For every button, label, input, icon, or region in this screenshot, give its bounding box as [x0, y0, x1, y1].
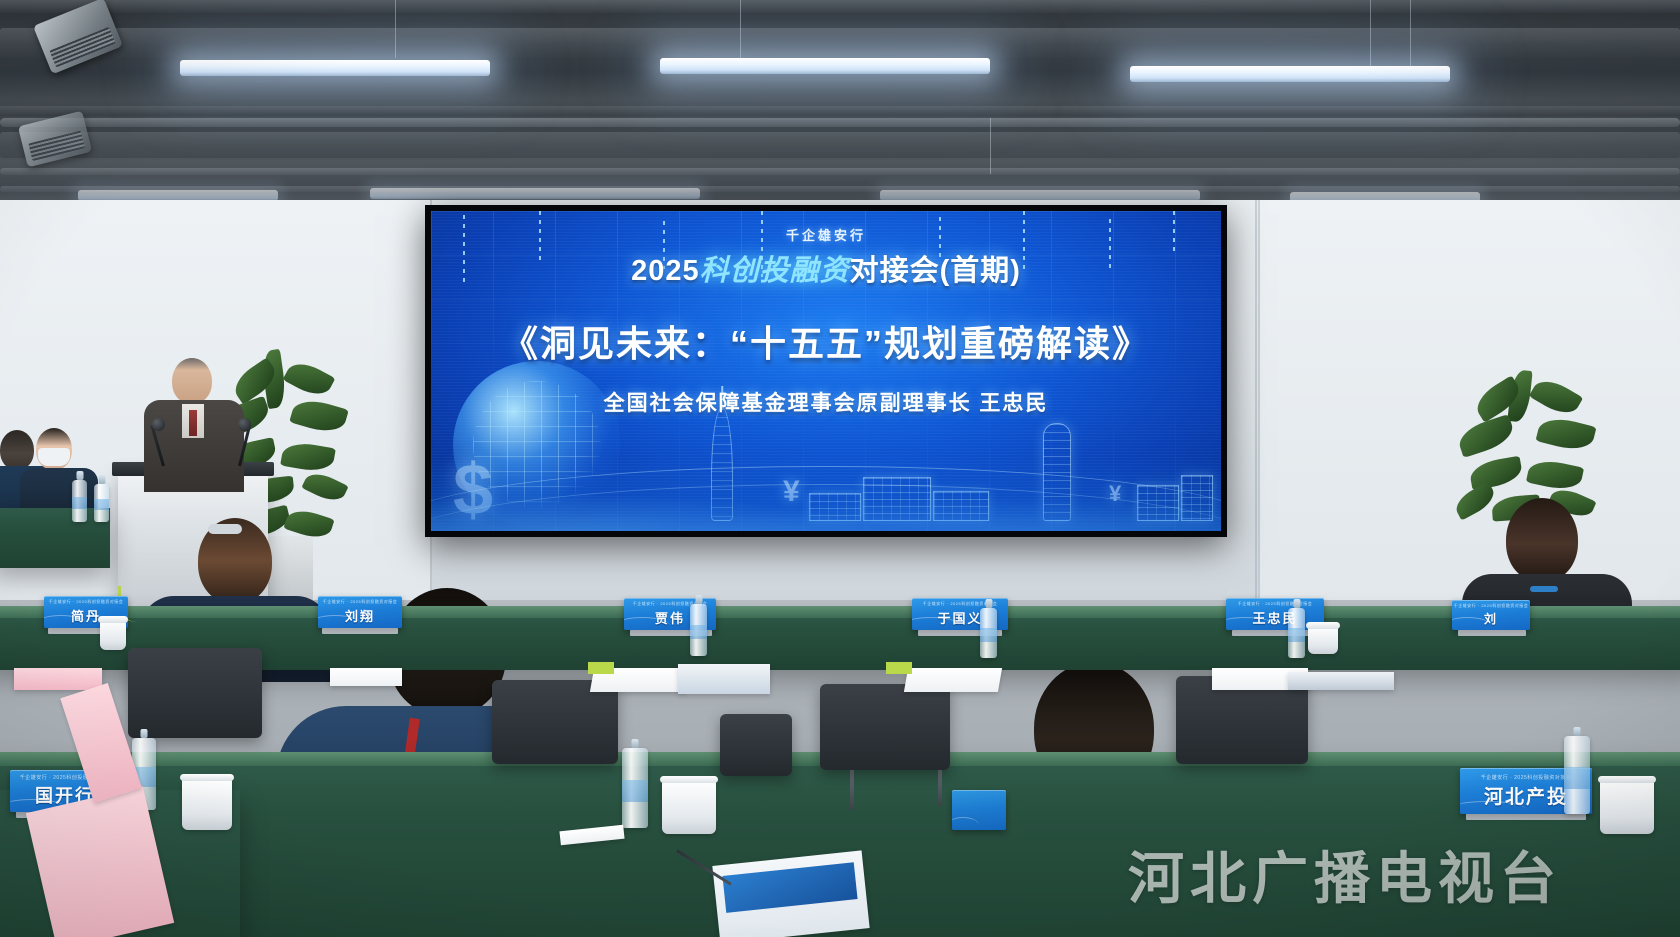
tea-cup [1600, 780, 1654, 834]
water-bottle [72, 480, 87, 522]
ceiling [0, 0, 1680, 212]
slide-talk-title: 《洞见未来：“十五五”规划重磅解读》 [431, 315, 1221, 367]
hair-clip-icon [208, 524, 242, 534]
document-sheet [1288, 672, 1394, 690]
lanyard-icon [1530, 586, 1558, 592]
slide-event-title: 2025科创投融资对接会(首期) [431, 247, 1221, 289]
tea-cup [182, 778, 232, 830]
table-edge [0, 606, 1680, 618]
led-presentation-screen: 千企雄安行 2025科创投融资对接会(首期) 《洞见未来：“十五五”规划重磅解读… [425, 205, 1227, 537]
document-sheet [678, 664, 770, 694]
face-mask-icon [38, 448, 70, 466]
placard-name: 刘 [1484, 610, 1498, 627]
placard-name: 贾伟 [655, 608, 685, 627]
placard-org-line: 千企雄安行 · 2025科创投融资对接会 [49, 599, 123, 605]
microphone-head [238, 418, 251, 431]
document-sheet [14, 668, 102, 690]
tea-cup [662, 780, 716, 834]
conference-booklet [712, 850, 869, 937]
sticky-note [588, 662, 614, 674]
screenshot-stage: 千企雄安行 2025科创投融资对接会(首期) 《洞见未来：“十五五”规划重磅解读… [0, 0, 1680, 937]
placard-name: 刘翔 [345, 606, 375, 625]
placard-partial[interactable] [952, 790, 1006, 830]
placard-name: 于国义 [937, 608, 982, 627]
sticky-note [886, 662, 912, 674]
placard-name: 河北产投 [1484, 782, 1568, 809]
document-sheet [330, 668, 402, 686]
placard-liu[interactable]: 千企雄安行 · 2025科创投融资对接会 刘 [1452, 600, 1530, 630]
presenter-tie [189, 410, 197, 436]
slide-surface: 千企雄安行 2025科创投融资对接会(首期) 《洞见未来：“十五五”规划重磅解读… [431, 211, 1221, 531]
slide-speaker-line: 全国社会保障基金理事会原副理事长 王忠民 [431, 387, 1221, 417]
ceiling-light-tube [660, 58, 990, 74]
placard-org-line: 千企雄安行 · 2025科创投融资对接会 [1454, 603, 1528, 609]
slide-kicker: 千企雄安行 [431, 225, 1221, 244]
chair[interactable] [820, 684, 950, 770]
tea-cup [1308, 626, 1338, 654]
placard-org-line: 千企雄安行 · 2025科创投融资对接会 [1481, 774, 1572, 781]
placard-stand [1458, 630, 1526, 636]
placard-org-line: 千企雄安行 · 2025科创投融资对接会 [323, 599, 397, 605]
water-bottle [980, 608, 997, 658]
ceiling-light-tube [370, 188, 700, 199]
ceiling-light-tube [1130, 66, 1450, 82]
chair[interactable] [720, 714, 792, 776]
microphone-head [152, 418, 165, 431]
water-bottle [622, 748, 648, 828]
broadcaster-watermark: 河北广播电视台 [1128, 834, 1562, 915]
placard-liuxiang[interactable]: 千企雄安行 · 2025科创投融资对接会 刘翔 [318, 596, 402, 628]
placard-org-line: 千企雄安行 · 2025科创投融资对接会 [1238, 601, 1312, 607]
chair[interactable] [492, 680, 618, 764]
tea-cup [100, 620, 126, 650]
slide-event-name-cursive: 科创投融资 [700, 255, 850, 287]
placard-stand [1232, 630, 1318, 636]
placard-name: 简丹 [71, 606, 101, 625]
water-bottle [690, 604, 707, 656]
presenter-head [172, 358, 212, 404]
water-bottle [1564, 736, 1590, 814]
slide-event-name-rest: 对接会(首期) [850, 255, 1021, 287]
water-bottle [94, 484, 109, 522]
placard-stand [322, 628, 398, 634]
slide-event-year: 2025 [631, 255, 700, 287]
water-bottle [1288, 608, 1305, 658]
ceiling-light-tube [180, 60, 490, 76]
chair[interactable] [128, 648, 262, 738]
document-sheet [904, 668, 1002, 692]
